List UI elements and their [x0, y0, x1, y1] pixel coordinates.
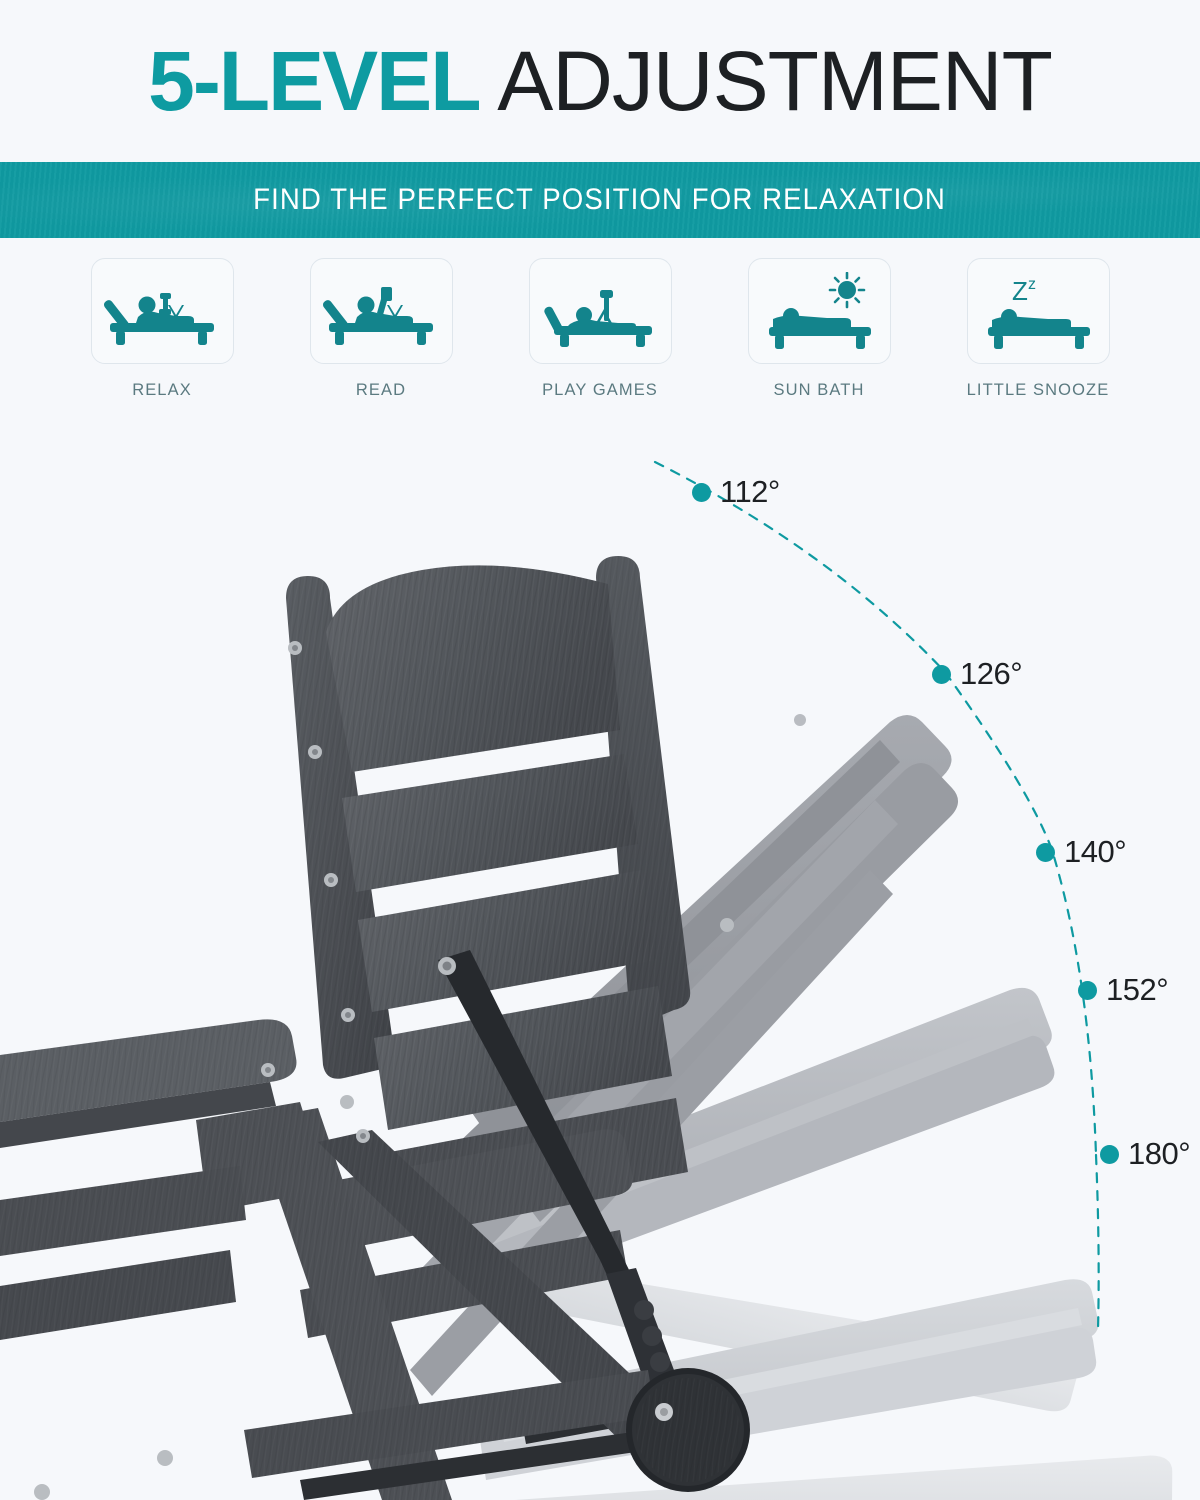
chaise-lounge-illustration — [0, 430, 1200, 1500]
z-letter-small: z — [1028, 276, 1036, 293]
mode-label-relax: RELAX — [132, 381, 192, 400]
page-title: 5-LEVEL ADJUSTMENT — [148, 39, 1052, 123]
sun-icon — [830, 273, 864, 307]
angle-callout-126: 126° — [932, 656, 1022, 692]
person-sleeping-icon: Z z — [978, 272, 1098, 350]
mode-icon-box-relax — [91, 258, 234, 364]
mode-label-read: READ — [356, 381, 406, 400]
angle-dot-112 — [692, 483, 711, 502]
mode-icon-box-little-snooze: Z z — [967, 258, 1110, 364]
mode-icon-box-play-games — [529, 258, 672, 364]
angle-label-140: 140° — [1064, 834, 1126, 870]
title-bar: 5-LEVEL ADJUSTMENT — [0, 0, 1200, 162]
angle-dot-140 — [1036, 843, 1055, 862]
mode-label-play-games: PLAY GAMES — [542, 381, 658, 400]
angle-callout-152: 152° — [1078, 972, 1168, 1008]
mode-icon-box-sun-bath — [748, 258, 891, 364]
title-main: ADJUSTMENT — [480, 34, 1052, 128]
angle-callout-180: 180° — [1100, 1136, 1190, 1172]
mode-label-little-snooze: LITTLE SNOOZE — [967, 381, 1110, 400]
mode-label-sun-bath: SUN BATH — [773, 381, 864, 400]
title-accent: 5-LEVEL — [148, 34, 479, 128]
angle-callout-112: 112° — [692, 474, 780, 510]
subtitle-text: FIND THE PERFECT POSITION FOR RELAXATION — [254, 183, 947, 217]
angle-label-152: 152° — [1106, 972, 1168, 1008]
mode-icon-box-read — [310, 258, 453, 364]
z-letter-large: Z — [1012, 276, 1028, 306]
product-photo: 112° 126° 140° 152° 180° — [0, 430, 1200, 1500]
mode-item-relax: RELAX — [90, 258, 235, 400]
angle-dot-180 — [1100, 1145, 1119, 1164]
chair-wheel — [626, 1368, 750, 1492]
mode-item-little-snooze: Z z LITTLE SNOOZE — [966, 258, 1111, 400]
angle-callout-140: 140° — [1036, 834, 1126, 870]
angle-label-180: 180° — [1128, 1136, 1190, 1172]
mode-item-play-games: PLAY GAMES — [528, 258, 673, 400]
promo-page: 5-LEVEL ADJUSTMENT FIND THE PERFECT POSI… — [0, 0, 1200, 1500]
angle-label-112: 112° — [720, 474, 780, 510]
subtitle-banner: FIND THE PERFECT POSITION FOR RELAXATION — [0, 162, 1200, 238]
mode-item-sun-bath: SUN BATH — [747, 258, 892, 400]
angle-label-126: 126° — [960, 656, 1022, 692]
angle-dot-152 — [1078, 981, 1097, 1000]
person-sunbathing-icon — [759, 272, 879, 350]
person-reclining-icon — [102, 275, 222, 347]
usage-modes-row: RELAX R — [0, 258, 1200, 418]
person-gaming-icon — [540, 275, 660, 347]
person-reading-icon — [321, 275, 441, 347]
angle-dot-126 — [932, 665, 951, 684]
mode-item-read: READ — [309, 258, 454, 400]
